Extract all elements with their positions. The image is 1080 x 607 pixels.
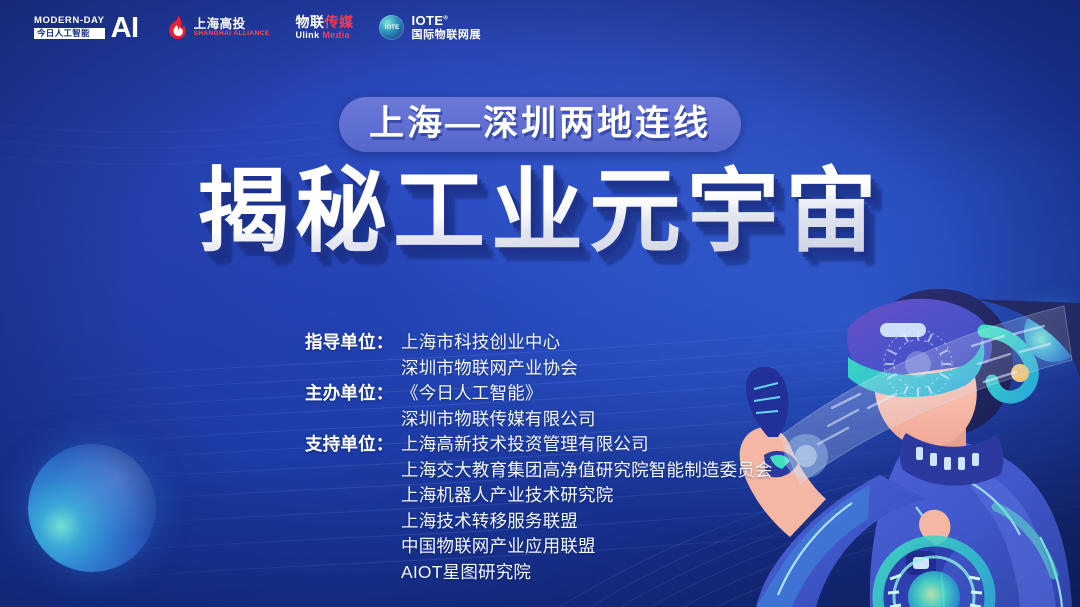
credit-value: 《今日人工智能》: [401, 381, 596, 407]
subtitle-pill: 上海—深圳两地连线: [339, 97, 741, 152]
planet-sphere-large: [28, 444, 156, 572]
logo-gaotou-chinese: 上海高投: [194, 18, 270, 31]
logo-iote-chinese: 国际物联网展: [411, 29, 481, 42]
credit-value: 深圳市物联传媒有限公司: [401, 407, 596, 433]
credit-value: 上海交大教育集团高净值研究院智能制造委员会: [401, 458, 773, 484]
registered-mark: ®: [443, 16, 448, 22]
credit-row-organizer: 主办单位： 《今日人工智能》 深圳市物联传媒有限公司: [305, 381, 773, 432]
logo-iote-english: IOTE®: [411, 14, 481, 29]
logo-modern-day-english: MODERN-DAY: [34, 16, 105, 26]
credits-block: 指导单位： 上海市科技创业中心 深圳市物联网产业协会 主办单位： 《今日人工智能…: [305, 330, 773, 585]
credit-value: 上海机器人产业技术研究院: [401, 483, 773, 509]
logo-ulink-english: Ulink Media: [295, 31, 349, 41]
logo-modern-day-ai: MODERN-DAY 今日人工智能 AI: [34, 15, 139, 41]
logo-modern-day-mark: AI: [111, 15, 139, 41]
headline-text: 揭秘工业元宇宙: [197, 163, 883, 262]
credit-value: 中国物联网产业应用联盟: [401, 534, 773, 560]
logo-bar: MODERN-DAY 今日人工智能 AI 上海高投 SHANGHAI ALLIA…: [34, 14, 481, 42]
logo-ulink-chinese: 物联传媒: [295, 15, 353, 30]
flame-icon: [165, 14, 188, 41]
logo-iote-english-text: IOTE: [411, 13, 443, 28]
logo-shanghai-gaotou: 上海高投 SHANGHAI ALLIANCE: [165, 14, 270, 41]
event-poster: MODERN-DAY 今日人工智能 AI 上海高投 SHANGHAI ALLIA…: [0, 0, 1080, 607]
logo-gaotou-english: SHANGHAI ALLIANCE: [194, 31, 270, 38]
credit-value: 上海高新技术投资管理有限公司: [401, 432, 773, 458]
credit-row-guidance: 指导单位： 上海市科技创业中心 深圳市物联网产业协会: [305, 330, 773, 381]
credit-values: 上海市科技创业中心 深圳市物联网产业协会: [401, 330, 578, 381]
vr-person-illustration: [720, 207, 1080, 607]
logo-ulink-chinese-white: 物联: [295, 14, 324, 30]
logo-ulink-media: 物联传媒 Ulink Media: [295, 15, 353, 40]
globe-icon: IOTE: [379, 15, 404, 40]
credit-label: 支持单位：: [305, 432, 401, 458]
credit-values: 上海高新技术投资管理有限公司 上海交大教育集团高净值研究院智能制造委员会 上海机…: [401, 432, 773, 585]
logo-ulink-chinese-red: 传媒: [324, 14, 353, 30]
credit-value: AIOT星图研究院: [401, 560, 773, 586]
credit-value: 上海技术转移服务联盟: [401, 509, 773, 535]
subtitle-text: 上海—深圳两地连线: [369, 104, 711, 143]
globe-icon-label: IOTE: [379, 15, 404, 40]
credit-values: 《今日人工智能》 深圳市物联传媒有限公司: [401, 381, 596, 432]
credit-value: 上海市科技创业中心: [401, 330, 578, 356]
page-title: 揭秘工业元宇宙: [197, 163, 883, 262]
credit-label: 主办单位：: [305, 381, 401, 407]
logo-iote: IOTE IOTE® 国际物联网展: [379, 14, 481, 42]
logo-ulink-english-red: Media: [322, 30, 350, 40]
credit-row-support: 支持单位： 上海高新技术投资管理有限公司 上海交大教育集团高净值研究院智能制造委…: [305, 432, 773, 585]
credit-label: 指导单位：: [305, 330, 401, 356]
credit-value: 深圳市物联网产业协会: [401, 356, 578, 382]
logo-ulink-english-white: Ulink: [295, 30, 319, 40]
logo-modern-day-chinese: 今日人工智能: [34, 28, 105, 40]
